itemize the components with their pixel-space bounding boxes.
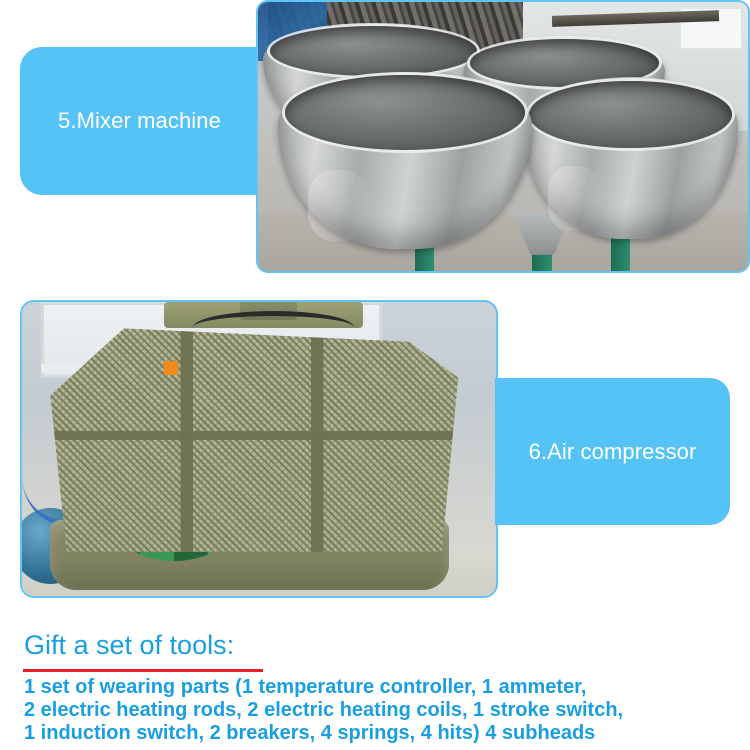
- photo-air-compressor: [20, 300, 498, 598]
- section-mixer-machine: 5.Mixer machine: [0, 0, 750, 275]
- compressor-guard-frame: [50, 328, 458, 551]
- product-detail-page: 5.Mixer machine: [0, 0, 750, 750]
- photo-air-compressor-art: [22, 302, 496, 596]
- label-text-mixer-machine: 5.Mixer machine: [58, 108, 221, 134]
- gift-heading-underline: [23, 669, 263, 672]
- gift-line: 1 set of wearing parts (1 temperature co…: [24, 676, 734, 699]
- section-gift-tools: Gift a set of tools: 1 set of wearing pa…: [0, 604, 750, 750]
- gift-line: 2 electric heating rods, 2 electric heat…: [24, 699, 734, 722]
- gift-lines: 1 set of wearing parts (1 temperature co…: [24, 676, 734, 745]
- section-air-compressor: 6.Air compressor: [0, 296, 750, 601]
- label-text-air-compressor: 6.Air compressor: [529, 439, 697, 465]
- photo-mixer-machine: [256, 0, 750, 273]
- compressor-orange-marker: [164, 361, 178, 376]
- label-box-mixer-machine: 5.Mixer machine: [20, 47, 259, 195]
- gift-line: 1 induction switch, 2 breakers, 4 spring…: [24, 722, 734, 745]
- gift-heading: Gift a set of tools:: [24, 632, 234, 659]
- label-box-air-compressor: 6.Air compressor: [495, 378, 730, 525]
- photo-mixer-machine-art: [258, 2, 748, 271]
